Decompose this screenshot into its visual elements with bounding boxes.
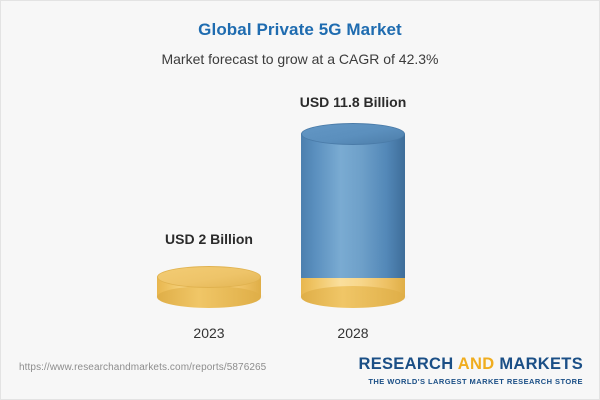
source-url-link[interactable]: https://www.researchandmarkets.com/repor… bbox=[19, 362, 266, 373]
segment-bottom-cap bbox=[157, 286, 261, 308]
page-title: Global Private 5G Market bbox=[1, 19, 599, 41]
bar-cylinder-2028[interactable] bbox=[301, 123, 405, 308]
value-label-2028: USD 11.8 Billion bbox=[273, 94, 433, 110]
category-label-2023: 2023 bbox=[129, 325, 289, 341]
category-label-2028: 2028 bbox=[273, 325, 433, 341]
bar-group-2028: USD 11.8 Billion 2028 bbox=[273, 91, 433, 341]
chart-footer: https://www.researchandmarkets.com/repor… bbox=[1, 347, 599, 399]
segment-bottom-cap bbox=[301, 286, 405, 308]
value-label-2023: USD 2 Billion bbox=[129, 231, 289, 247]
logo-wordmark: RESEARCH AND MARKETS bbox=[358, 355, 583, 374]
segment-top-cap bbox=[301, 123, 405, 145]
bar-group-2023: USD 2 Billion 2023 bbox=[129, 91, 289, 341]
research-and-markets-logo[interactable]: RESEARCH AND MARKETS THE WORLD'S LARGEST… bbox=[358, 355, 583, 387]
logo-word-markets: MARKETS bbox=[499, 355, 583, 373]
chart-subtitle: Market forecast to grow at a CAGR of 42.… bbox=[1, 49, 599, 69]
bar-segment-blue-2028 bbox=[301, 123, 405, 278]
bar-cylinder-2023[interactable] bbox=[157, 266, 261, 308]
bar-segment-gold-2023 bbox=[157, 266, 261, 308]
logo-tagline: THE WORLD'S LARGEST MARKET RESEARCH STOR… bbox=[358, 376, 583, 387]
logo-word-research: RESEARCH bbox=[358, 355, 457, 373]
segment-body bbox=[301, 134, 405, 278]
segment-top-cap bbox=[157, 266, 261, 288]
chart-header: Global Private 5G Market Market forecast… bbox=[1, 19, 599, 69]
plot-area: USD 2 Billion 2023 USD 11.8 Billion bbox=[1, 91, 599, 341]
chart-card: Global Private 5G Market Market forecast… bbox=[0, 0, 600, 400]
logo-word-and: AND bbox=[458, 355, 500, 373]
